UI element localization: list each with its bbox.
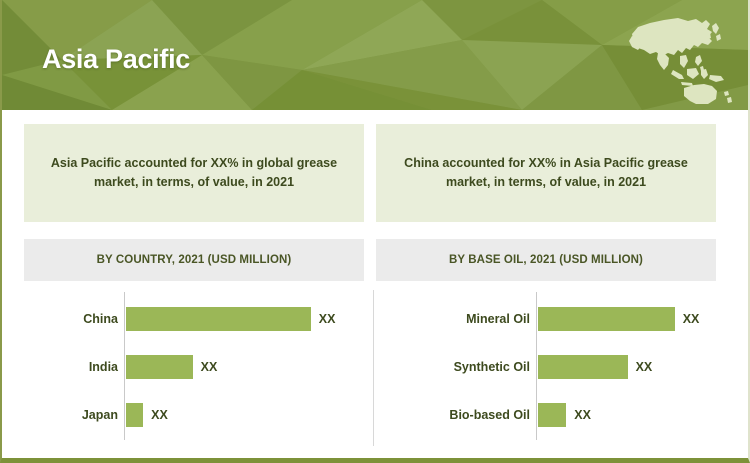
callout-china-share-text: China accounted for XX% in Asia Pacific … — [392, 154, 700, 193]
section-header-bars: BY COUNTRY, 2021 (USD MILLION) BY BASE O… — [2, 239, 748, 283]
callout-china-share: China accounted for XX% in Asia Pacific … — [376, 124, 716, 222]
map-silhouette-icon — [624, 12, 734, 104]
callout-asia-pacific-share-text: Asia Pacific accounted for XX% in global… — [40, 154, 348, 193]
by-base-oil-bar — [538, 307, 675, 331]
by-country-bar-row: India XX — [12, 353, 364, 381]
by-country-bar — [126, 403, 143, 427]
by-base-oil-bar-value: XX — [574, 401, 591, 429]
by-country-bar-value: XX — [151, 401, 168, 429]
by-base-oil-bar-chart: Mineral Oil XX Synthetic Oil XX Bio-base… — [382, 288, 734, 456]
by-base-oil-bar — [538, 355, 628, 379]
by-country-category-label: Japan — [12, 401, 118, 429]
section-header-by-country: BY COUNTRY, 2021 (USD MILLION) — [24, 239, 364, 281]
section-header-by-base-oil: BY BASE OIL, 2021 (USD MILLION) — [376, 239, 716, 281]
asia-pacific-infographic: Asia Pacific — [0, 0, 750, 463]
by-base-oil-bar-value: XX — [636, 353, 653, 381]
charts-area: China XX India XX Japan XX Mineral Oil X — [2, 288, 748, 456]
by-country-bar — [126, 307, 311, 331]
by-base-oil-category-label: Synthetic Oil — [382, 353, 530, 381]
by-base-oil-category-label: Mineral Oil — [382, 305, 530, 333]
by-country-bar-value: XX — [319, 305, 336, 333]
by-country-bar-value: XX — [201, 353, 218, 381]
by-country-bar — [126, 355, 193, 379]
asia-pacific-map-icon — [624, 12, 734, 104]
section-header-by-base-oil-label: BY BASE OIL, 2021 (USD MILLION) — [449, 254, 643, 266]
page-title: Asia Pacific — [42, 44, 190, 75]
callout-panels: Asia Pacific accounted for XX% in global… — [2, 110, 748, 236]
header-banner: Asia Pacific — [2, 0, 748, 110]
by-base-oil-category-label: Bio-based Oil — [382, 401, 530, 429]
by-country-category-label: India — [12, 353, 118, 381]
by-base-oil-bar-value: XX — [683, 305, 700, 333]
by-country-bar-row: Japan XX — [12, 401, 364, 429]
by-country-bar-row: China XX — [12, 305, 364, 333]
section-header-by-country-label: BY COUNTRY, 2021 (USD MILLION) — [97, 254, 292, 266]
by-country-category-label: China — [12, 305, 118, 333]
by-base-oil-bar-row: Mineral Oil XX — [382, 305, 734, 333]
by-base-oil-bar-row: Synthetic Oil XX — [382, 353, 734, 381]
by-country-bar-chart: China XX India XX Japan XX — [12, 288, 364, 456]
charts-divider — [373, 290, 374, 446]
callout-asia-pacific-share: Asia Pacific accounted for XX% in global… — [24, 124, 364, 222]
by-base-oil-bar — [538, 403, 566, 427]
by-base-oil-bar-row: Bio-based Oil XX — [382, 401, 734, 429]
